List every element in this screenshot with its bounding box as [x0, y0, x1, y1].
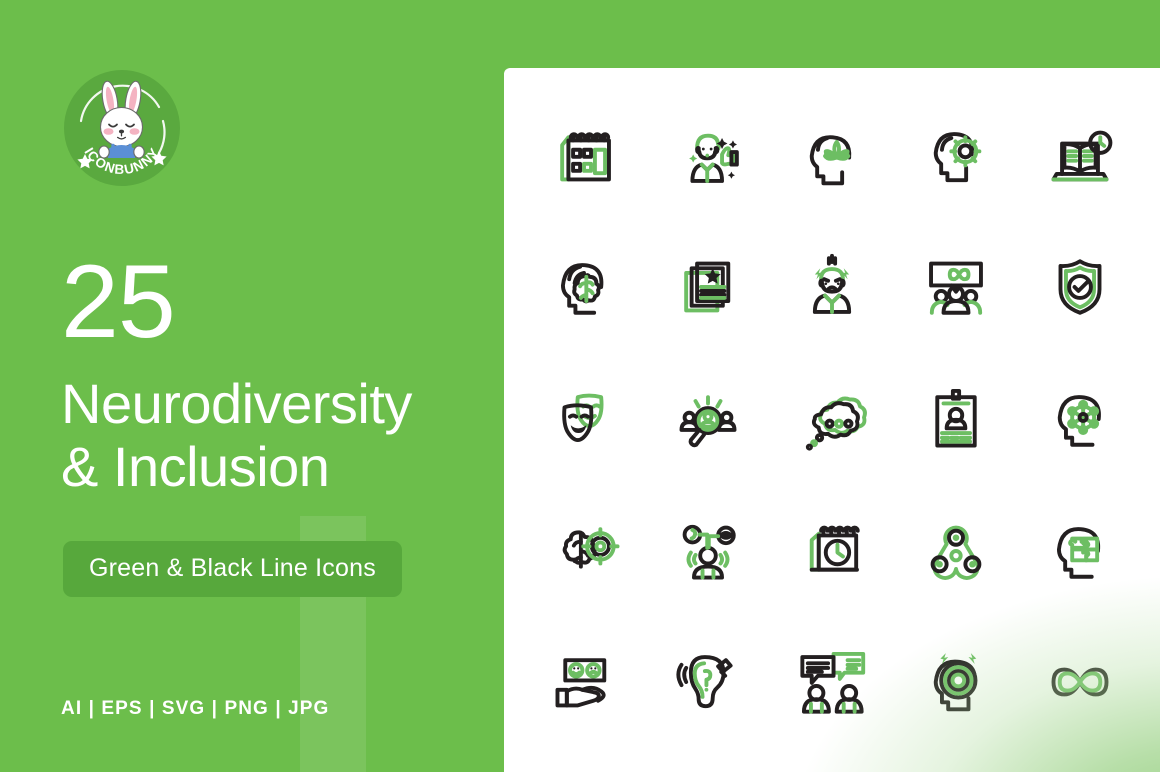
icon-cell[interactable] — [1018, 485, 1142, 617]
calendar-icon — [545, 117, 623, 195]
laptop-book-clock-icon — [1041, 117, 1119, 195]
icon-cell[interactable] — [522, 353, 646, 485]
left-panel: ICONBUNNY 25 Neurodiversity & Inclusion … — [0, 0, 504, 772]
id-badge-icon — [917, 380, 995, 458]
head-network-icon — [1041, 380, 1119, 458]
head-sensory-overload-icon — [917, 643, 995, 721]
stressed-person-icon — [793, 248, 871, 326]
icon-cell[interactable] — [770, 616, 894, 748]
iconbunny-logo: ICONBUNNY — [63, 69, 181, 187]
infinity-icon — [1041, 643, 1119, 721]
icon-cell[interactable] — [1018, 90, 1142, 222]
icon-cell[interactable] — [770, 222, 894, 354]
icon-cell[interactable] — [894, 222, 1018, 354]
icon-cell[interactable] — [1018, 616, 1142, 748]
page-title: Neurodiversity & Inclusion — [61, 372, 491, 498]
icon-cell[interactable] — [522, 616, 646, 748]
documents-star-icon — [669, 248, 747, 326]
theater-masks-icon — [545, 380, 623, 458]
icon-cell[interactable] — [646, 353, 770, 485]
brain-target-icon — [545, 512, 623, 590]
sensory-person-icon — [669, 512, 747, 590]
icon-cell[interactable] — [770, 485, 894, 617]
icon-grid — [504, 68, 1160, 772]
icon-cell[interactable] — [646, 485, 770, 617]
icon-cell[interactable] — [646, 90, 770, 222]
group-infinity-banner-icon — [917, 248, 995, 326]
icon-count: 25 — [61, 253, 175, 351]
person-thumbs-up-icon — [669, 117, 747, 195]
shield-check-icon — [1041, 248, 1119, 326]
icon-cell[interactable] — [894, 485, 1018, 617]
ear-hearing-aid-icon — [669, 643, 747, 721]
head-lotus-icon — [793, 117, 871, 195]
calendar-clock-icon — [793, 512, 871, 590]
head-brain-icon — [545, 248, 623, 326]
page-title-line1: Neurodiversity — [61, 372, 491, 435]
icon-cell[interactable] — [522, 485, 646, 617]
icon-cell[interactable] — [894, 90, 1018, 222]
page-title-line2: & Inclusion — [61, 435, 491, 498]
people-search-icon — [669, 380, 747, 458]
icon-cell[interactable] — [770, 90, 894, 222]
icon-cell[interactable] — [646, 222, 770, 354]
icon-showcase-panel — [504, 68, 1160, 772]
hand-emotions-icon — [545, 643, 623, 721]
icon-cell[interactable] — [522, 222, 646, 354]
head-gear-icon — [917, 117, 995, 195]
icon-cell[interactable] — [522, 90, 646, 222]
icon-cell[interactable] — [894, 353, 1018, 485]
icon-cell[interactable] — [770, 353, 894, 485]
icon-cell[interactable] — [1018, 222, 1142, 354]
style-badge: Green & Black Line Icons — [63, 541, 402, 597]
icon-cell[interactable] — [1018, 353, 1142, 485]
fidget-spinner-icon — [917, 512, 995, 590]
icon-cell[interactable] — [894, 616, 1018, 748]
icon-cell[interactable] — [646, 616, 770, 748]
format-list: AI | EPS | SVG | PNG | JPG — [61, 698, 329, 720]
poster-canvas: ICONBUNNY 25 Neurodiversity & Inclusion … — [0, 0, 1160, 772]
head-puzzle-icon — [1041, 512, 1119, 590]
people-chat-icon — [793, 643, 871, 721]
thought-cloud-icon — [793, 380, 871, 458]
